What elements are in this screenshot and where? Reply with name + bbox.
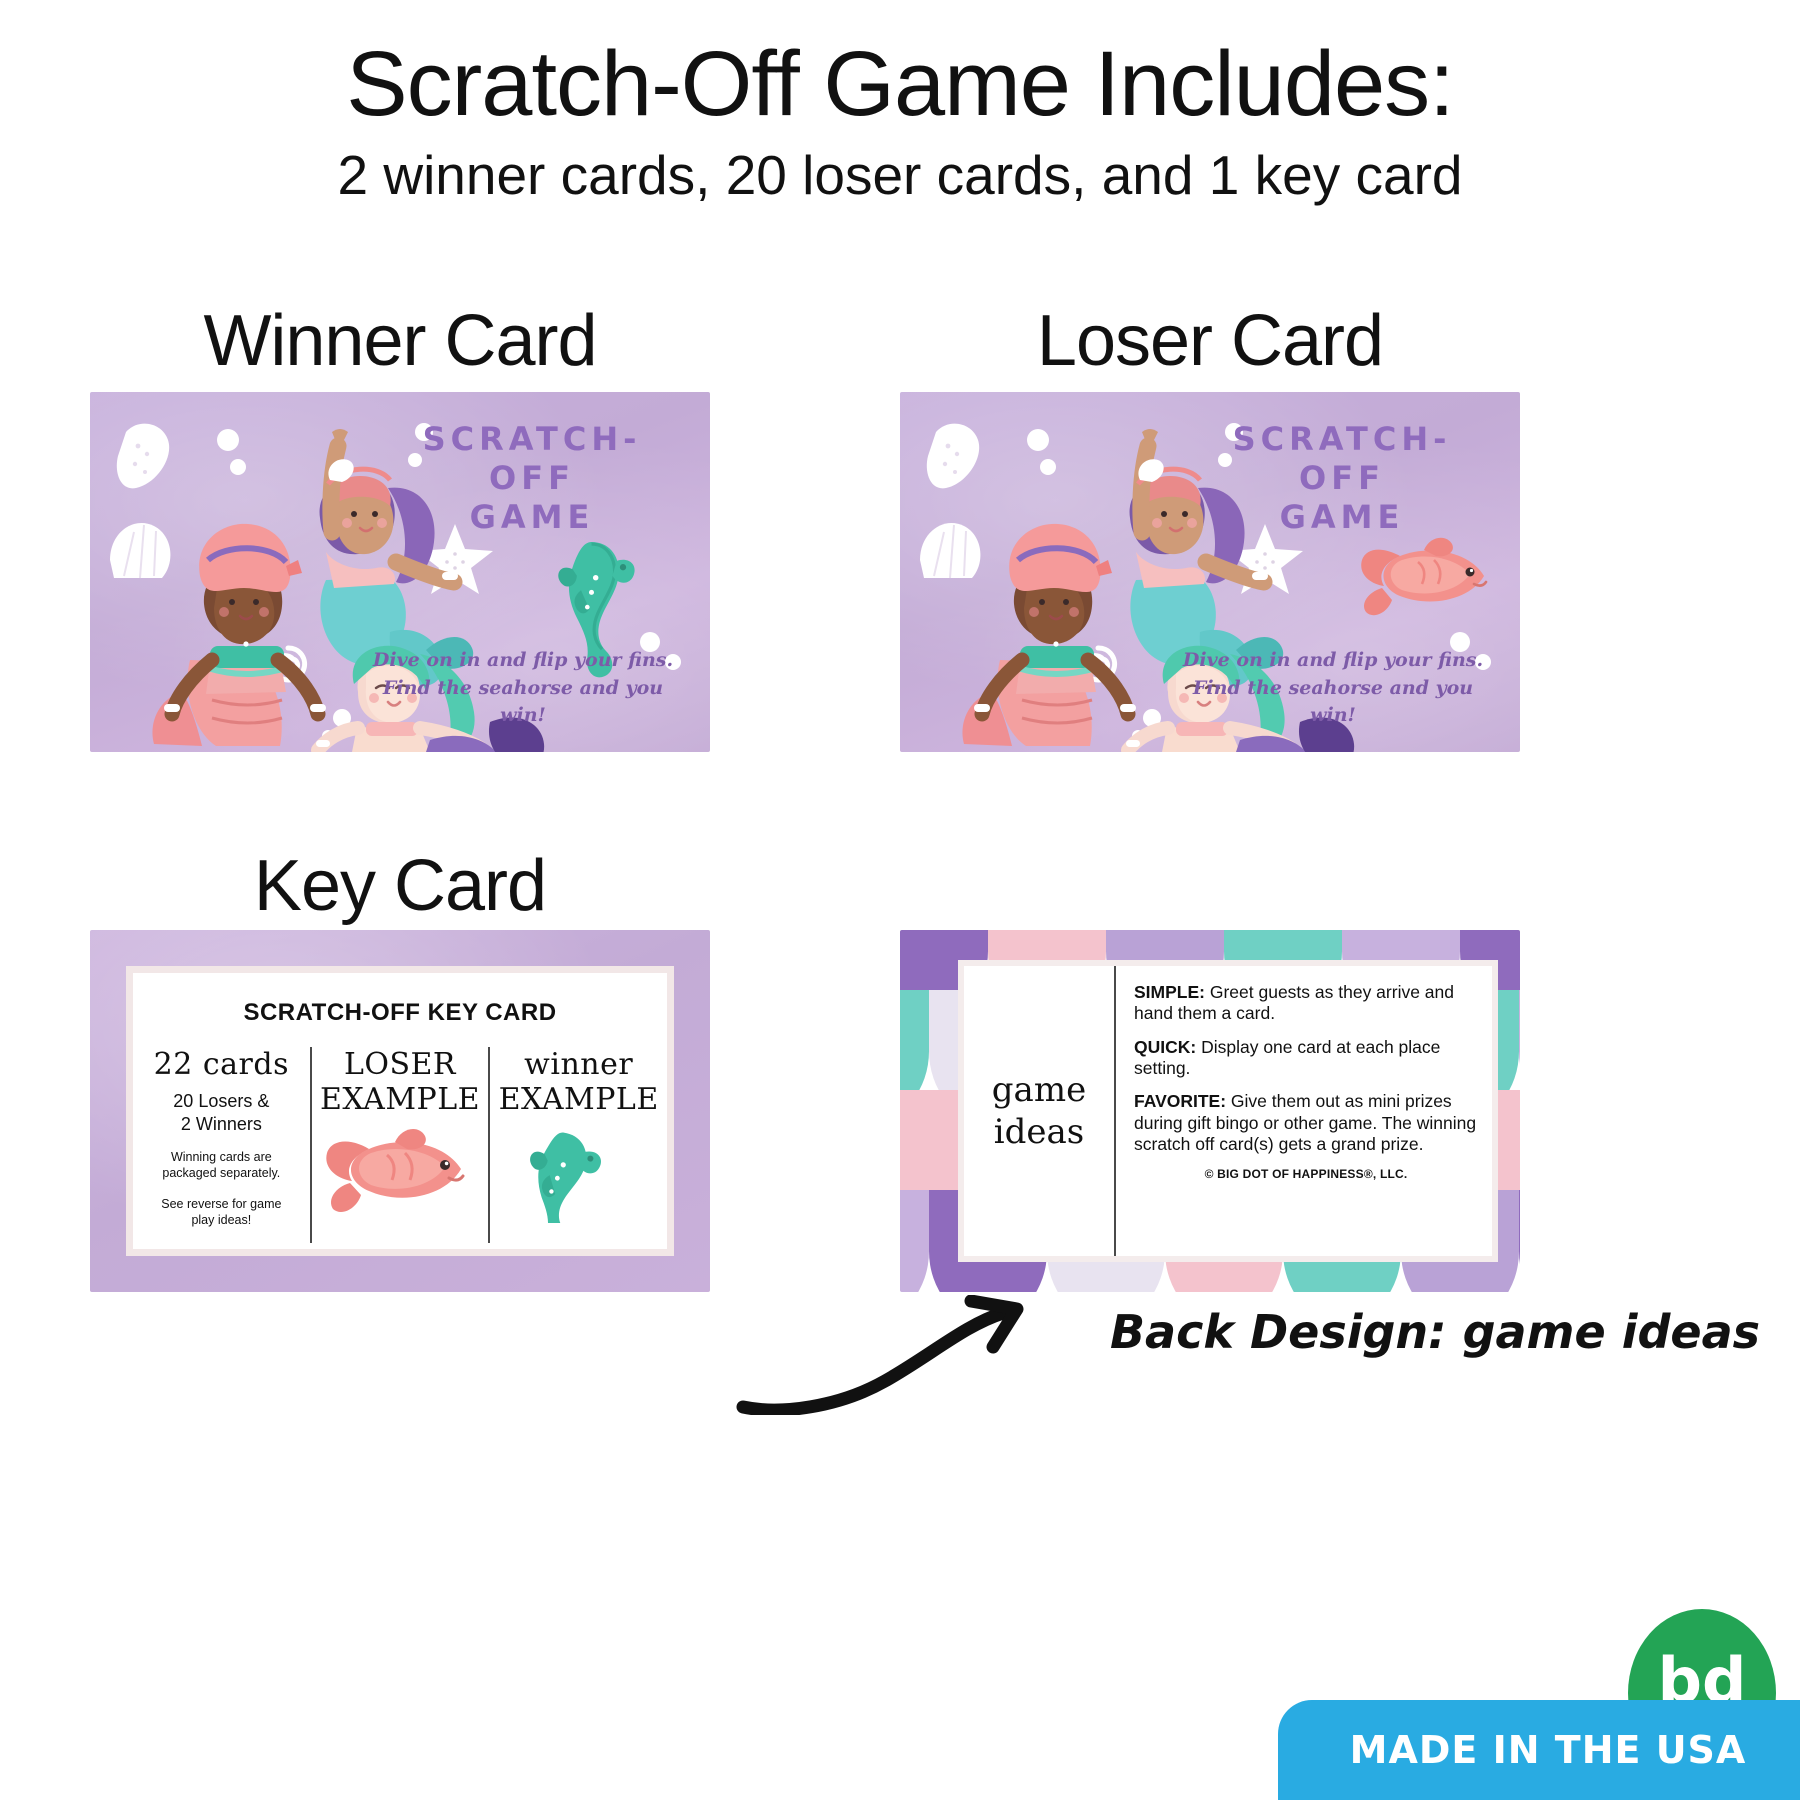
made-in-usa-banner: MADE IN THE USA [1278,1700,1800,1800]
loser-card-label: Loser Card [900,300,1520,382]
game-idea-item: QUICK: Display one card at each place se… [1134,1037,1478,1080]
conch-shell-icon [927,424,979,489]
game-ideas-heading: game ideas [964,966,1116,1256]
page-title: Scratch-Off Game Includes: [0,38,1800,130]
fish-icon [325,1127,475,1217]
mermaid-coral-icon [962,524,1136,746]
game-ideas-list: SIMPLE: Greet guests as they arrive and … [1116,966,1492,1256]
back-design-card-image: game ideas SIMPLE: Greet guests as they … [900,930,1520,1292]
game-ideas-line1: game [992,1069,1086,1112]
card-title-line1: SCRATCH-OFF [423,420,642,497]
key-card-column-counts: 22 cards 20 Losers & 2 Winners Winning c… [133,1047,310,1243]
seahorse-icon [504,1127,654,1223]
product-infographic: Scratch-Off Game Includes: 2 winner card… [0,0,1800,1800]
game-idea-item: SIMPLE: Greet guests as they arrive and … [1134,982,1478,1025]
card-tagline-line2: Find the seahorse and you win! [383,677,663,727]
card-tagline: Dive on in and flip your fins. Find the … [1168,647,1498,730]
loser-card-image: SCRATCH-OFF GAME Dive on in and flip you… [900,392,1520,752]
loser-example-title: LOSER EXAMPLE [318,1047,483,1117]
game-idea-label: SIMPLE: [1134,982,1205,1002]
loser-example-art [318,1127,483,1217]
made-in-usa-text: MADE IN THE USA [1350,1728,1747,1772]
winner-card-image: SCRATCH-OFF GAME Dive on in and flip you… [90,392,710,752]
card-fine-note-1: Winning cards are packaged separately. [139,1149,304,1182]
key-card-columns: 22 cards 20 Losers & 2 Winners Winning c… [133,1047,667,1243]
game-idea-label: QUICK: [1134,1037,1196,1057]
curved-arrow-icon [735,1295,1045,1415]
card-tagline-line2: Find the seahorse and you win! [1193,677,1473,727]
card-title-line2: GAME [470,498,595,536]
scallop-shell-icon [110,523,170,578]
key-card-column-loser: LOSER EXAMPLE [310,1047,489,1243]
card-fine-note-2: See reverse for game play ideas! [139,1196,304,1229]
game-idea-label: FAVORITE: [1134,1091,1226,1111]
card-tagline: Dive on in and flip your fins. Find the … [358,647,688,730]
card-title: SCRATCH-OFF GAME [382,420,682,537]
card-tagline-line1: Dive on in and flip your fins. [1183,649,1483,671]
page-subtitle: 2 winner cards, 20 loser cards, and 1 ke… [0,148,1800,203]
card-count-title: 22 cards [139,1047,304,1082]
back-design-caption: Back Design: game ideas [1110,1305,1760,1359]
game-ideas-line2: ideas [994,1111,1084,1154]
winner-example-title: winner EXAMPLE [496,1047,661,1117]
card-title-line1: SCRATCH-OFF [1233,420,1452,497]
mermaid-coral-icon [152,524,326,746]
key-card-column-winner: winner EXAMPLE [488,1047,667,1243]
conch-shell-icon [117,424,169,489]
card-title-line2: GAME [1280,498,1405,536]
back-card-inner-panel: game ideas SIMPLE: Greet guests as they … [958,960,1498,1262]
card-tagline-line1: Dive on in and flip your fins. [373,649,673,671]
game-idea-item: FAVORITE: Give them out as mini prizes d… [1134,1091,1478,1155]
winner-card-label: Winner Card [90,300,710,382]
card-title: SCRATCH-OFF GAME [1192,420,1492,537]
key-card-label: Key Card [90,845,710,927]
fish-icon [1361,538,1486,615]
key-card-inner-panel: SCRATCH-OFF KEY CARD 22 cards 20 Losers … [126,966,674,1256]
card-count-sub: 20 Losers & 2 Winners [139,1090,304,1135]
key-card-image: SCRATCH-OFF KEY CARD 22 cards 20 Losers … [90,930,710,1292]
copyright-notice: © BIG DOT OF HAPPINESS®, LLC. [1134,1167,1478,1181]
key-card-heading: SCRATCH-OFF KEY CARD [133,999,667,1027]
winner-example-art [496,1127,661,1217]
scallop-shell-icon [920,523,980,578]
